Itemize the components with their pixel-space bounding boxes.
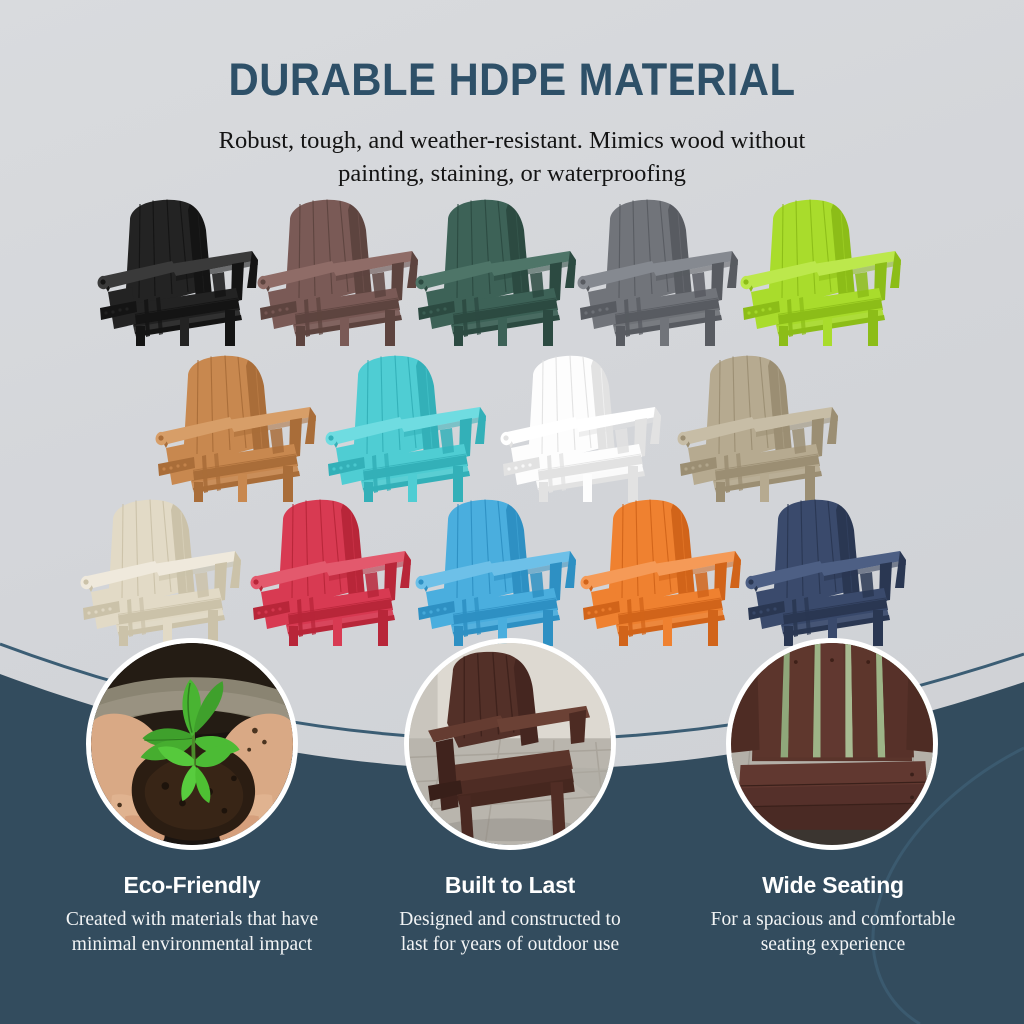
armrest-left bbox=[731, 677, 760, 753]
feature-eco-friendly: Eco-Friendly Created with materials that… bbox=[22, 872, 362, 958]
feature-description: Designed and constructed to last for yea… bbox=[350, 907, 670, 958]
chair-back-slats bbox=[752, 643, 914, 761]
chair-graphic bbox=[672, 352, 872, 502]
feature-description: For a spacious and comfortable seating e… bbox=[668, 907, 998, 958]
subtitle-line-2: painting, staining, or waterproofing bbox=[0, 157, 1024, 190]
feature-title: Built to Last bbox=[350, 872, 670, 899]
chair-navy-blue[interactable] bbox=[740, 496, 940, 646]
page-title: DURABLE HDPE MATERIAL bbox=[36, 54, 988, 106]
feature-description-line-2: minimal environmental impact bbox=[22, 932, 362, 957]
armrest-right bbox=[906, 677, 933, 753]
feature-description-line-2: seating experience bbox=[668, 932, 998, 957]
chair-graphic bbox=[495, 352, 695, 502]
feature-image-eco-friendly bbox=[86, 638, 298, 850]
feature-description-line-1: Created with materials that have bbox=[22, 907, 362, 932]
chair-color-grid bbox=[0, 196, 1024, 656]
page-subtitle: Robust, tough, and weather-resistant. Mi… bbox=[0, 124, 1024, 191]
feature-description-line-1: Designed and constructed to bbox=[350, 907, 670, 932]
chair-graphic bbox=[735, 196, 935, 346]
chair-graphic bbox=[320, 352, 520, 502]
chair-turquoise[interactable] bbox=[320, 352, 520, 502]
subtitle-line-1: Robust, tough, and weather-resistant. Mi… bbox=[0, 124, 1024, 157]
feature-title: Wide Seating bbox=[668, 872, 998, 899]
feature-built-to-last: Built to Last Designed and constructed t… bbox=[350, 872, 670, 958]
chair-khaki[interactable] bbox=[672, 352, 872, 502]
feature-description: Created with materials that have minimal… bbox=[22, 907, 362, 958]
feature-wide-seating: Wide Seating For a spacious and comforta… bbox=[668, 872, 998, 958]
chair-lime-green[interactable] bbox=[735, 196, 935, 346]
feature-title: Eco-Friendly bbox=[22, 872, 362, 899]
chair-white[interactable] bbox=[495, 352, 695, 502]
feature-image-built-to-last bbox=[404, 638, 616, 850]
infographic-page: DURABLE HDPE MATERIAL Robust, tough, and… bbox=[0, 0, 1024, 1024]
feature-description-line-2: last for years of outdoor use bbox=[350, 932, 670, 957]
feature-image-wide-seating bbox=[726, 638, 938, 850]
feature-description-line-1: For a spacious and comfortable bbox=[668, 907, 998, 932]
chair-graphic bbox=[740, 496, 940, 646]
